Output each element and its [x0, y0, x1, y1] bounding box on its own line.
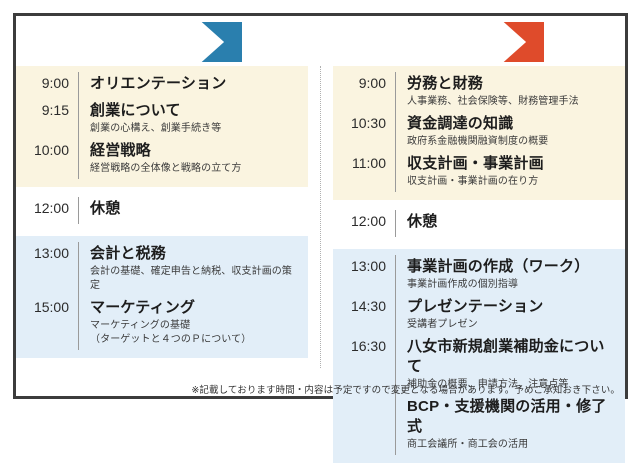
row-content: 休憩	[79, 199, 300, 219]
schedule-row: 9:00労務と財務人事業務、社会保険等、財務管理手法	[333, 72, 617, 112]
row-title: マーケティング	[90, 298, 300, 318]
row-description: 政府系金融機関融資制度の概要	[407, 135, 617, 149]
schedule-row: 14:30プレゼンテーション受講者プレゼン	[333, 295, 617, 335]
row-content: 資金調達の知識政府系金融機関融資制度の概要	[396, 114, 617, 149]
row-description-line: 人事業務、社会保険等、財務管理手法	[407, 95, 617, 109]
row-description: マーケティングの基礎（ターゲットと４つのＰについて）	[90, 319, 300, 347]
footnote: ※記載しております時間・内容は予定ですので変更となる場合があります。予めご承知お…	[191, 382, 620, 396]
row-description-line: マーケティングの基礎	[90, 319, 300, 333]
row-content: マーケティングマーケティングの基礎（ターゲットと４つのＰについて）	[79, 298, 300, 347]
row-time: 14:30	[333, 297, 395, 316]
row-description-line: 創業の心構え、創業手続き等	[90, 122, 300, 136]
row-description: 創業の心構え、創業手続き等	[90, 122, 300, 136]
row-title: オリエンテーション	[90, 74, 300, 94]
row-time: 12:00	[333, 212, 395, 231]
schedule-row: 11:00収支計画・事業計画収支計画・事業計画の在り方	[333, 152, 617, 192]
row-title: 労務と財務	[407, 74, 617, 94]
row-description-line: 会計の基礎、確定申告と納税、収支計画の策定	[90, 265, 300, 293]
row-time: 16:30	[333, 337, 395, 356]
column-gap	[308, 66, 333, 386]
schedule-row: 15:00マーケティングマーケティングの基礎（ターゲットと４つのＰについて）	[16, 296, 300, 350]
row-time: 10:30	[333, 114, 395, 133]
row-time: 9:00	[16, 74, 78, 93]
row-description-line: 政府系金融機関融資制度の概要	[407, 135, 617, 149]
schedule-block: 12:00休憩	[16, 191, 308, 232]
row-title: 収支計画・事業計画	[407, 154, 617, 174]
row-description-line: （ターゲットと４つのＰについて）	[90, 333, 300, 347]
row-description-line: 収支計画・事業計画の在り方	[407, 175, 617, 189]
row-time: 9:15	[16, 101, 78, 120]
row-title: 資金調達の知識	[407, 114, 617, 134]
schedule-row: 13:00事業計画の作成（ワーク）事業計画作成の個別指導	[333, 255, 617, 295]
row-title: 会計と税務	[90, 244, 300, 264]
row-description-line: 受講者プレゼン	[407, 318, 617, 332]
time-title-divider	[78, 72, 79, 179]
row-description: 経営戦略の全体像と戦略の立て方	[90, 162, 300, 176]
schedule-row: 10:00経営戦略経営戦略の全体像と戦略の立て方	[16, 139, 300, 179]
row-description: 事業計画作成の個別指導	[407, 278, 617, 292]
row-time: 10:00	[16, 141, 78, 160]
row-content: 休憩	[396, 212, 617, 232]
row-title: 休憩	[90, 199, 300, 219]
row-title: 休憩	[407, 212, 617, 232]
row-content: プレゼンテーション受講者プレゼン	[396, 297, 617, 332]
row-time: 9:00	[333, 74, 395, 93]
schedule-block: 12:00休憩	[333, 204, 625, 245]
row-content: 収支計画・事業計画収支計画・事業計画の在り方	[396, 154, 617, 189]
row-description: 商工会議所・商工会の活用	[407, 438, 617, 452]
row-description-line: 経営戦略の全体像と戦略の立て方	[90, 162, 300, 176]
row-time: 13:00	[16, 244, 78, 263]
schedule-block: 9:00オリエンテーション9:15創業について創業の心構え、創業手続き等10:0…	[16, 66, 308, 187]
row-content: オリエンテーション	[79, 74, 300, 94]
row-description: 人事業務、社会保険等、財務管理手法	[407, 95, 617, 109]
row-time: 15:00	[16, 298, 78, 317]
schedule-row: 10:30資金調達の知識政府系金融機関融資制度の概要	[333, 112, 617, 152]
row-content: 経営戦略経営戦略の全体像と戦略の立て方	[79, 141, 300, 176]
schedule-row: 12:00休憩	[16, 197, 300, 224]
row-title: 創業について	[90, 101, 300, 121]
row-content: 労務と財務人事業務、社会保険等、財務管理手法	[396, 74, 617, 109]
schedule-row: 9:15創業について創業の心構え、創業手続き等	[16, 99, 300, 139]
schedule-row: 9:00オリエンテーション	[16, 72, 300, 99]
row-description-line: 商工会議所・商工会の活用	[407, 438, 617, 452]
time-title-divider	[395, 210, 396, 237]
schedule-column-day1: 9:00オリエンテーション9:15創業について創業の心構え、創業手続き等10:0…	[16, 66, 308, 386]
time-title-divider	[78, 242, 79, 350]
row-content: 会計と税務会計の基礎、確定申告と納税、収支計画の策定	[79, 244, 300, 293]
schedule-block: 9:00労務と財務人事業務、社会保険等、財務管理手法10:30資金調達の知識政府…	[333, 66, 625, 200]
row-description: 受講者プレゼン	[407, 318, 617, 332]
row-time: 11:00	[333, 154, 395, 173]
time-title-divider	[78, 197, 79, 224]
row-title: プレゼンテーション	[407, 297, 617, 317]
schedule-block: 13:00会計と税務会計の基礎、確定申告と納税、収支計画の策定15:00マーケテ…	[16, 236, 308, 358]
time-title-divider	[395, 255, 396, 455]
schedule-columns: 9:00オリエンテーション9:15創業について創業の心構え、創業手続き等10:0…	[16, 66, 625, 386]
row-title: BCP・支援機関の活用・修了式	[407, 397, 617, 437]
schedule-row: BCP・支援機関の活用・修了式商工会議所・商工会の活用	[333, 395, 617, 455]
time-title-divider	[395, 72, 396, 192]
row-time: 13:00	[333, 257, 395, 276]
row-title: 事業計画の作成（ワーク）	[407, 257, 617, 277]
row-description-line: 事業計画作成の個別指導	[407, 278, 617, 292]
row-content: 事業計画の作成（ワーク）事業計画作成の個別指導	[396, 257, 617, 292]
schedule-column-day2: 9:00労務と財務人事業務、社会保険等、財務管理手法10:30資金調達の知識政府…	[333, 66, 625, 386]
schedule-block: 13:00事業計画の作成（ワーク）事業計画作成の個別指導14:30プレゼンテーシ…	[333, 249, 625, 463]
row-description: 会計の基礎、確定申告と納税、収支計画の策定	[90, 265, 300, 293]
row-title: 八女市新規創業補助金について	[407, 337, 617, 377]
schedule-row: 13:00会計と税務会計の基礎、確定申告と納税、収支計画の策定	[16, 242, 300, 296]
row-title: 経営戦略	[90, 141, 300, 161]
row-content: 創業について創業の心構え、創業手続き等	[79, 101, 300, 136]
row-description: 収支計画・事業計画の在り方	[407, 175, 617, 189]
row-content: BCP・支援機関の活用・修了式商工会議所・商工会の活用	[396, 397, 617, 452]
column-divider	[320, 66, 321, 368]
schedule-row: 12:00休憩	[333, 210, 617, 237]
row-time: 12:00	[16, 199, 78, 218]
